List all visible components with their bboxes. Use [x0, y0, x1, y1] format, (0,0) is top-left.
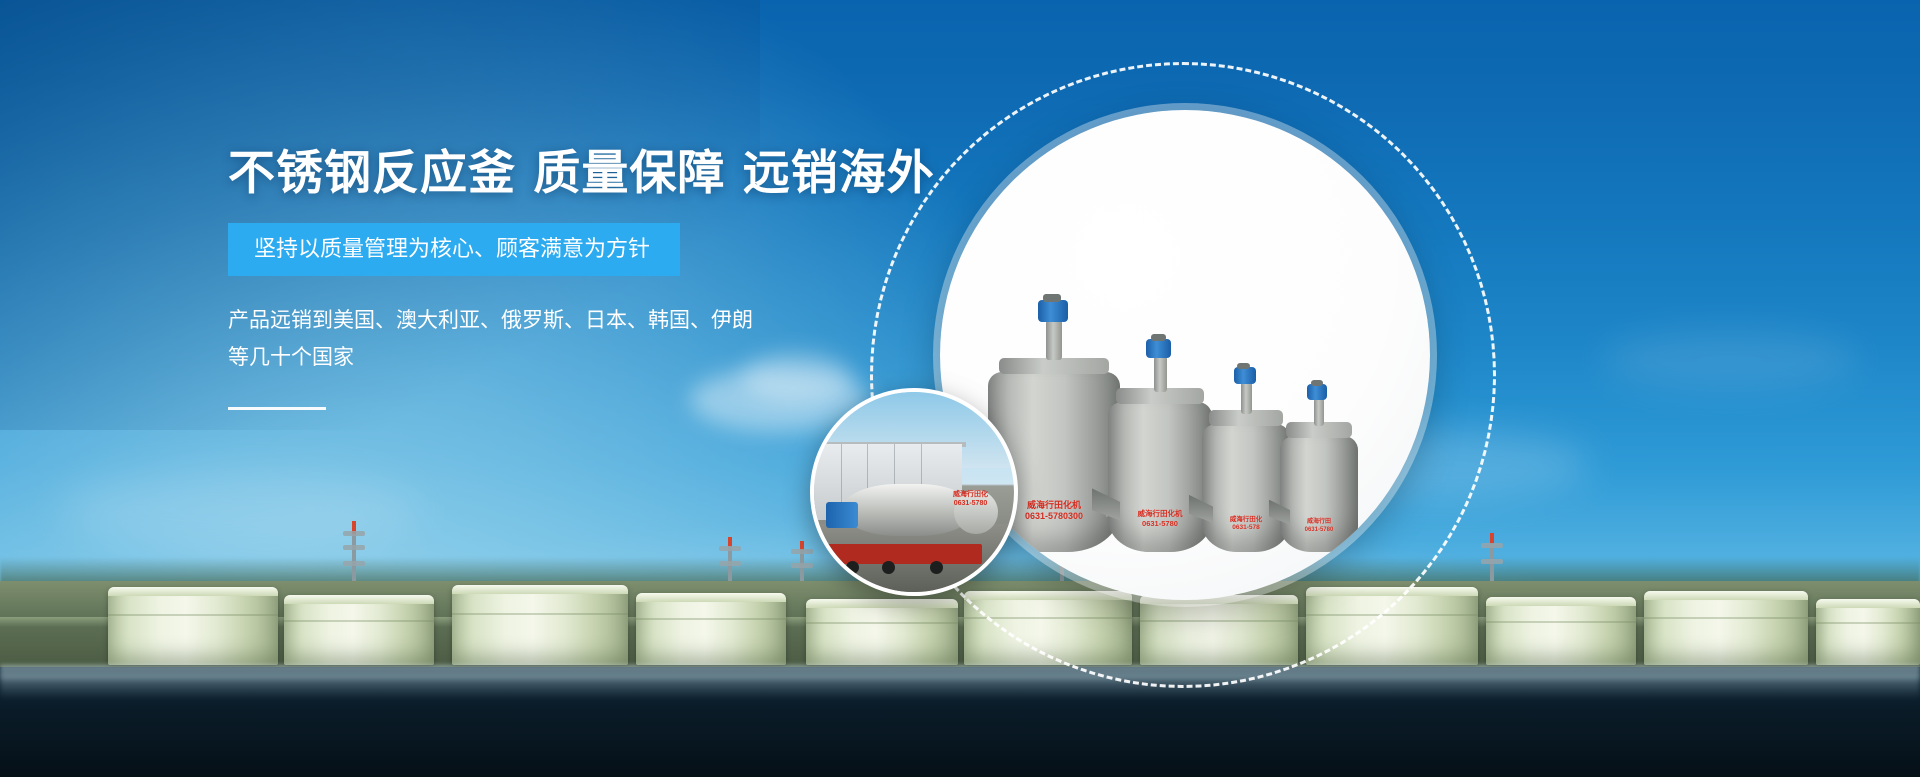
subtitle-highlight-bar: 坚持以质量管理为核心、顾客满意为方针 — [228, 223, 680, 276]
reactor-label: 威海行田 0631-5780 — [1284, 519, 1354, 534]
reactor-vessel: 威海行田 0631-5780 — [1280, 356, 1358, 552]
storage-tank — [1486, 597, 1636, 665]
storage-tank — [636, 593, 786, 665]
page-title: 不锈钢反应釜 质量保障 远销海外 — [228, 150, 1048, 197]
storage-tank — [1644, 591, 1808, 665]
radio-tower — [800, 541, 804, 581]
storage-tank — [1816, 599, 1920, 665]
storage-tank — [806, 599, 958, 665]
storage-tank — [108, 587, 278, 665]
photo-truck-wheel — [930, 561, 943, 574]
horizontal-rule-decoration — [228, 407, 326, 410]
cloud — [60, 470, 420, 550]
cloud — [1600, 330, 1860, 390]
storage-tank — [452, 585, 628, 665]
description-paragraph: 产品远销到美国、澳大利亚、俄罗斯、日本、韩国、伊朗 等几十个国家 — [228, 303, 788, 377]
photo-truck-wheel — [846, 561, 859, 574]
reactor-vessel: 威海行田化机 0631-5780 — [1108, 326, 1212, 552]
radio-tower — [352, 521, 356, 581]
photo-truck-wheel — [882, 561, 895, 574]
radio-tower — [728, 537, 732, 581]
factory-shipping-photo: 威海行田化 0631-5780 — [810, 388, 1018, 596]
description-line-1: 产品远销到美国、澳大利亚、俄罗斯、日本、韩国、伊朗 — [228, 303, 788, 340]
radio-tower — [1490, 533, 1494, 581]
banner-text-block: 不锈钢反应釜 质量保障 远销海外 坚持以质量管理为核心、顾客满意为方针 产品远销… — [228, 150, 1048, 410]
photo-reactor-label: 威海行田化 0631-5780 — [953, 491, 988, 508]
water-shimmer — [0, 673, 1920, 699]
reactor-vessel: 威海行田化 0631-578 — [1202, 344, 1290, 552]
description-line-2: 等几十个国家 — [228, 340, 788, 377]
hero-banner: 威海行田化机 0631-5780300 威海行田化机 0631-5780 — [0, 0, 1920, 777]
storage-tank — [284, 595, 434, 665]
photo-reactor-motor — [826, 502, 858, 528]
